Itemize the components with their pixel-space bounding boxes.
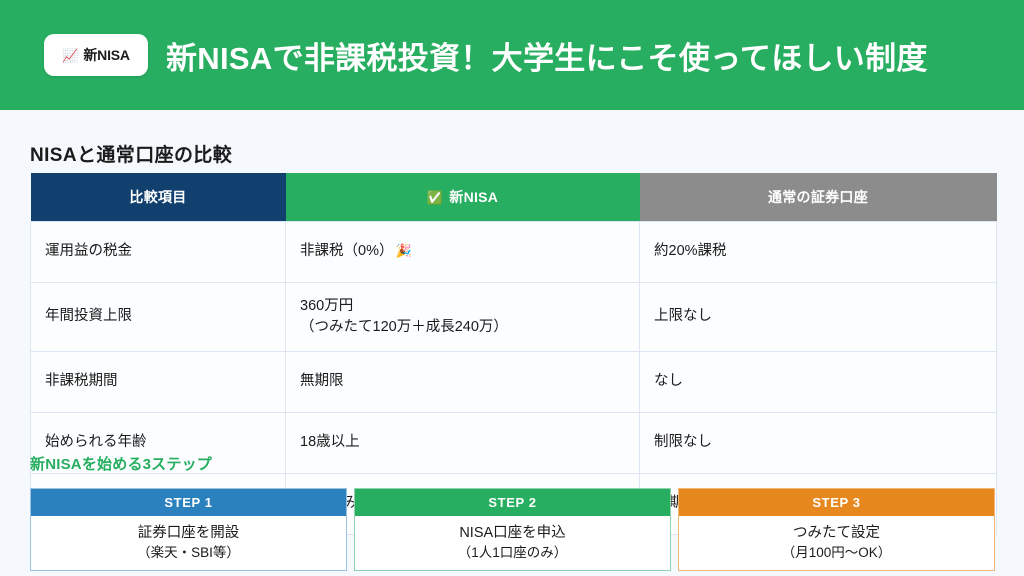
row-label: 非課税期間 [31, 352, 286, 413]
check-mark-button-icon: ✅ [427, 191, 444, 204]
row-nisa-value: 無期限 [286, 352, 640, 413]
row-normal-value: なし [640, 352, 997, 413]
step-2-header: STEP 2 [355, 489, 670, 516]
header-band: 📈 新NISA 新NISAで非課税投資！大学生にこそ使ってほしい制度 [0, 0, 1024, 110]
nisa-badge: 📈 新NISA [44, 34, 148, 76]
column-header-item-label: 比較項目 [129, 187, 186, 207]
row-normal-value: 制限なし [640, 413, 997, 474]
row-label: 年間投資上限 [31, 283, 286, 352]
table-row: 運用益の税金 非課税（0%）🎉 約20%課税 [31, 222, 997, 283]
column-header-nisa-label: 新NISA [449, 187, 498, 207]
row-nisa-text: 非課税（0%） [300, 243, 393, 259]
comparison-table-wrapper: 比較項目 ✅ 新NISA 通常の証券口座 [30, 173, 990, 535]
step-card-1: STEP 1 証券口座を開設 （楽天・SBI等） [30, 488, 347, 571]
row-normal-value: 約20%課税 [640, 222, 997, 283]
row-nisa-subtext: （つみたて120万＋成長240万） [300, 317, 625, 338]
comparison-table: 比較項目 ✅ 新NISA 通常の証券口座 [30, 173, 997, 535]
column-header-normal-label: 通常の証券口座 [768, 187, 868, 207]
steps-row: STEP 1 証券口座を開設 （楽天・SBI等） STEP 2 NISA口座を申… [30, 488, 995, 571]
step-1-line2: （楽天・SBI等） [137, 544, 240, 562]
column-header-item: 比較項目 [31, 173, 286, 222]
steps-heading: 新NISAを始める3ステップ [30, 453, 212, 474]
table-header-row: 比較項目 ✅ 新NISA 通常の証券口座 [31, 173, 997, 222]
column-header-nisa: ✅ 新NISA [286, 173, 640, 222]
nisa-badge-label: 新NISA [83, 45, 129, 65]
step-card-3: STEP 3 つみたて設定 （月100円〜OK） [678, 488, 995, 571]
row-nisa-value: 非課税（0%）🎉 [286, 222, 640, 283]
step-1-header: STEP 1 [31, 489, 346, 516]
row-label: 運用益の税金 [31, 222, 286, 283]
section-heading: NISAと通常口座の比較 [30, 140, 232, 167]
row-nisa-text: 360万円 [300, 296, 625, 317]
step-2-line2: （1人1口座のみ） [458, 544, 568, 562]
table-head: 比較項目 ✅ 新NISA 通常の証券口座 [31, 173, 997, 222]
step-3-line1: つみたて設定 [793, 524, 880, 544]
table-row: 年間投資上限 360万円 （つみたて120万＋成長240万） 上限なし [31, 283, 997, 352]
step-2-line1: NISA口座を申込 [459, 524, 565, 544]
row-nisa-value: 18歳以上 [286, 413, 640, 474]
table-row: 非課税期間 無期限 なし [31, 352, 997, 413]
step-1-line1: 証券口座を開設 [138, 524, 240, 544]
step-3-body: つみたて設定 （月100円〜OK） [679, 516, 994, 570]
step-3-line2: （月100円〜OK） [782, 544, 892, 562]
step-1-body: 証券口座を開設 （楽天・SBI等） [31, 516, 346, 570]
row-normal-value: 上限なし [640, 283, 997, 352]
page-title: 新NISAで非課税投資！大学生にこそ使ってほしい制度 [166, 33, 928, 78]
column-header-normal: 通常の証券口座 [640, 173, 997, 222]
step-card-2: STEP 2 NISA口座を申込 （1人1口座のみ） [354, 488, 671, 571]
slide-root: 📈 新NISA 新NISAで非課税投資！大学生にこそ使ってほしい制度 NISAと… [0, 0, 1024, 576]
step-2-body: NISA口座を申込 （1人1口座のみ） [355, 516, 670, 570]
chart-increasing-icon: 📈 [62, 49, 78, 62]
row-nisa-value: 360万円 （つみたて120万＋成長240万） [286, 283, 640, 352]
step-3-header: STEP 3 [679, 489, 994, 516]
party-popper-icon: 🎉 [395, 243, 411, 258]
